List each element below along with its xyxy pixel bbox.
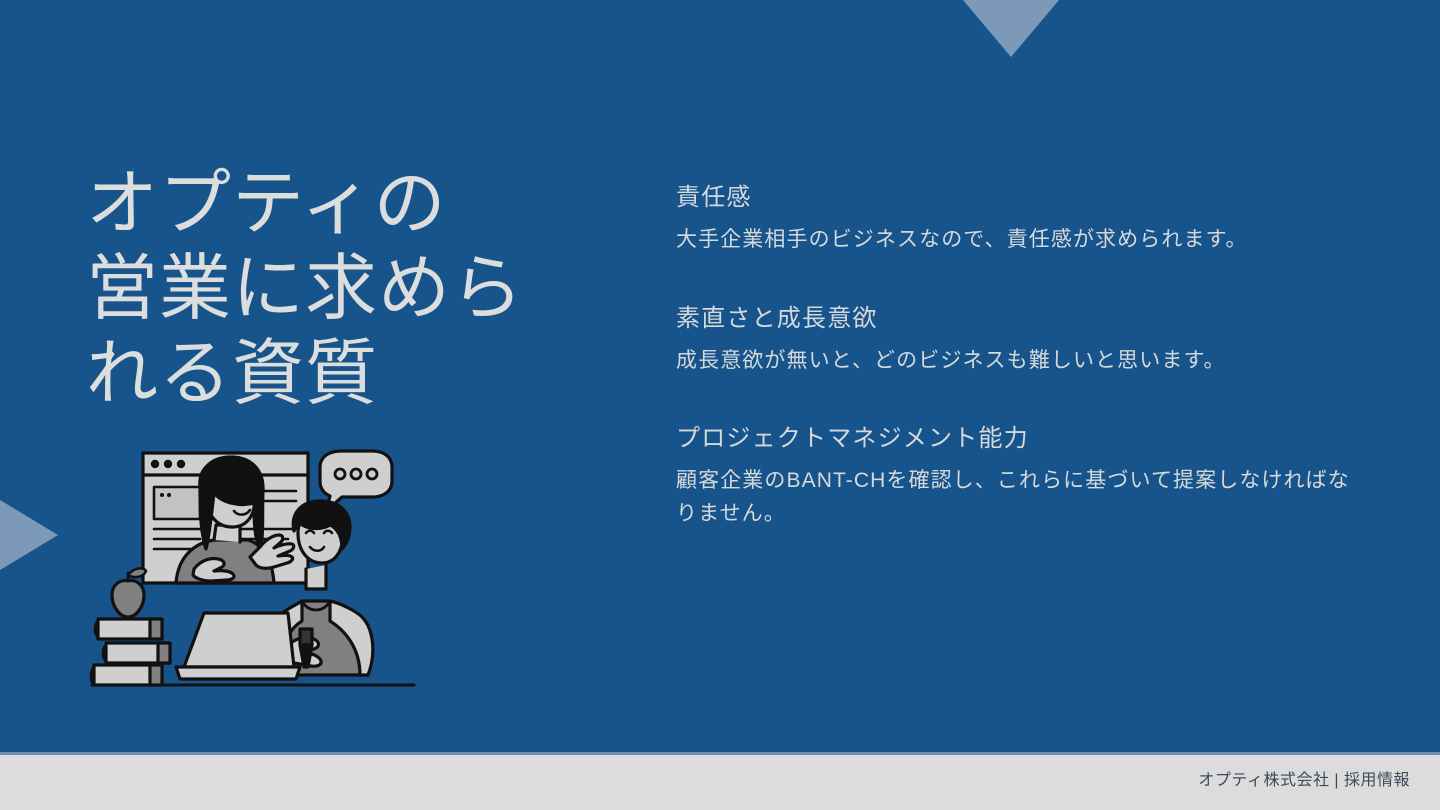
decorative-triangle-top-icon xyxy=(963,0,1059,57)
quality-heading-1: 責任感 xyxy=(676,180,1366,216)
footer-label: オプティ株式会社 | 採用情報 xyxy=(1198,766,1410,790)
online-meeting-study-illustration xyxy=(88,443,418,688)
page-title-line-2: 営業に求めら xyxy=(86,247,626,332)
slide-root: オプティの 営業に求めら れる資質 xyxy=(0,0,1440,810)
quality-heading-2: 素直さと成長意欲 xyxy=(676,301,1366,337)
page-title: オプティの 営業に求めら れる資質 xyxy=(86,162,626,417)
quality-body-1: 大手企業相手のビジネスなので、責任感が求められます。 xyxy=(676,224,1366,257)
qualities-list: 責任感 大手企業相手のビジネスなので、責任感が求められます。 素直さと成長意欲 … xyxy=(676,180,1366,530)
page-title-line-3: れる資質 xyxy=(86,332,626,417)
quality-block-2: 素直さと成長意欲 成長意欲が無いと、どのビジネスも難しいと思います。 xyxy=(676,301,1366,378)
quality-body-3: 顧客企業のBANT-CHを確認し、これらに基づいて提案しなければなりません。 xyxy=(676,465,1366,530)
decorative-triangle-left-icon xyxy=(0,500,58,570)
quality-block-1: 責任感 大手企業相手のビジネスなので、責任感が求められます。 xyxy=(676,180,1366,257)
quality-body-2: 成長意欲が無いと、どのビジネスも難しいと思います。 xyxy=(676,345,1366,378)
page-title-line-1: オプティの xyxy=(86,162,626,247)
quality-block-3: プロジェクトマネジメント能力 顧客企業のBANT-CHを確認し、これらに基づいて… xyxy=(676,421,1366,530)
quality-heading-3: プロジェクトマネジメント能力 xyxy=(676,421,1366,457)
